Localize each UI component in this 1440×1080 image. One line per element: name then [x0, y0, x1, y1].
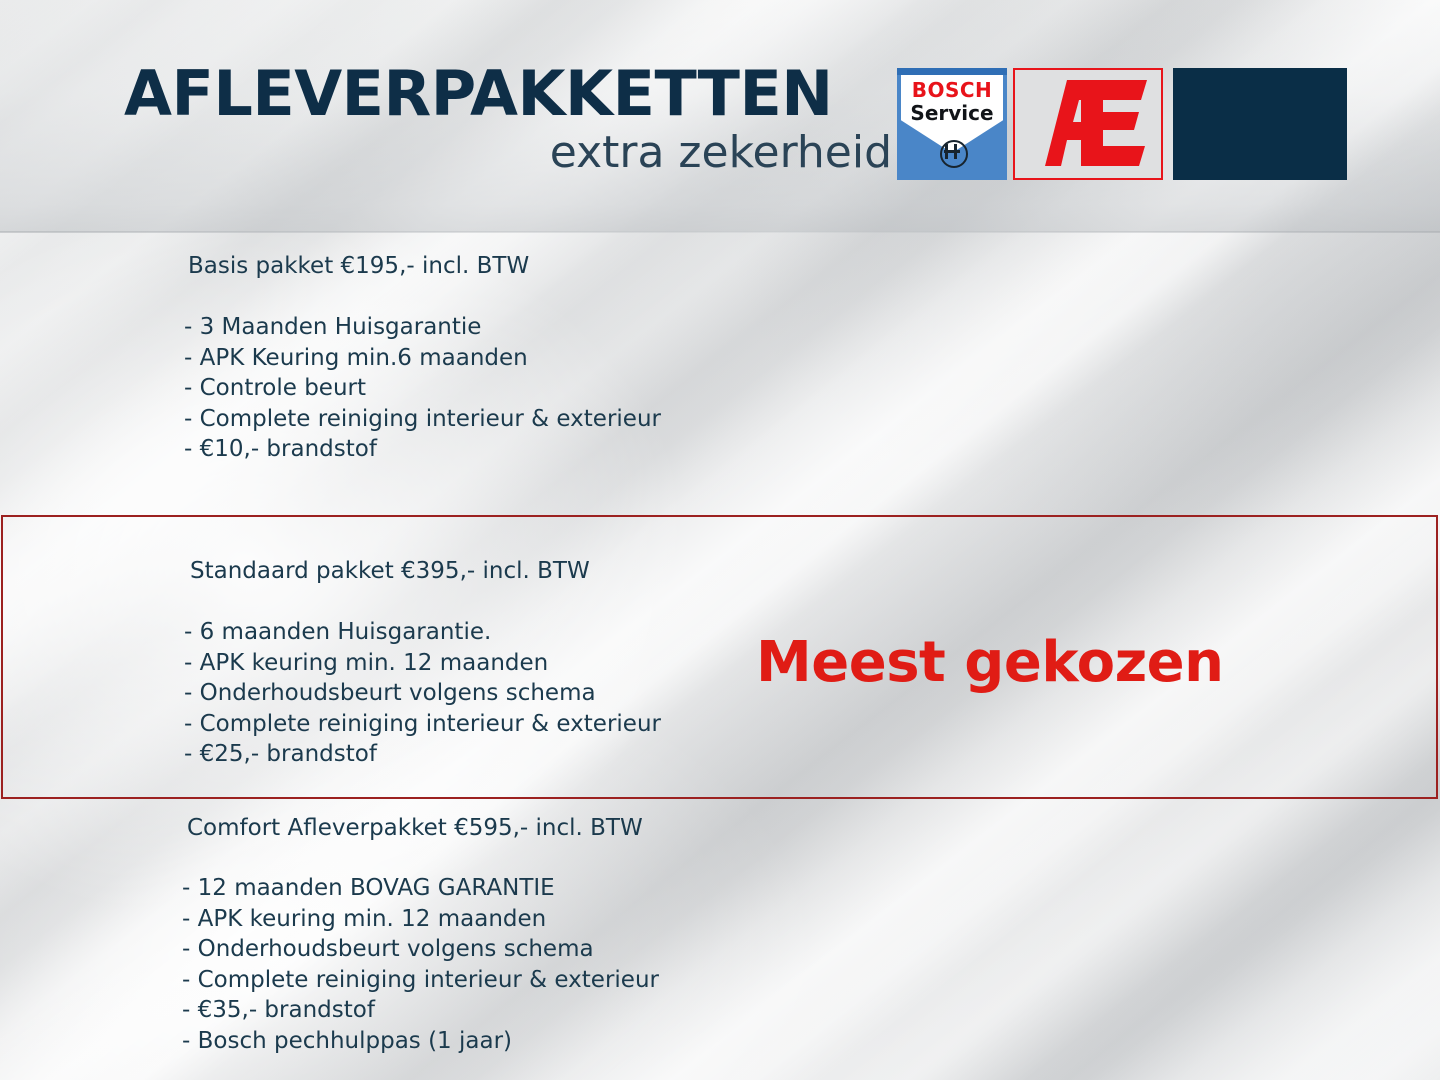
- list-item: - Onderhoudsbeurt volgens schema: [184, 678, 661, 709]
- list-item: - 12 maanden BOVAG GARANTIE: [182, 873, 659, 904]
- list-item: - Onderhoudsbeurt volgens schema: [182, 934, 659, 965]
- package-comfort-list: - 12 maanden BOVAG GARANTIE - APK keurin…: [182, 873, 659, 1056]
- title-block: AFLEVERPAKKETTEN extra zekerheid: [124, 62, 892, 178]
- bosch-armature-icon: [940, 140, 968, 168]
- highlight-label: Meest gekozen: [756, 632, 1224, 694]
- background-top-band-edge: [0, 231, 1440, 233]
- package-comfort: Comfort Afleverpakket €595,- incl. BTW -…: [187, 815, 659, 1056]
- bosch-service-wordmark: Service: [897, 102, 1007, 124]
- header: AFLEVERPAKKETTEN extra zekerheid BOSCH S…: [0, 0, 1440, 214]
- bosch-top-bar: [897, 68, 1007, 75]
- package-basis-list: - 3 Maanden Huisgarantie - APK Keuring m…: [184, 312, 661, 465]
- list-item: - Complete reiniging interieur & exterie…: [184, 709, 661, 740]
- list-item: - 3 Maanden Huisgarantie: [184, 312, 661, 343]
- package-standaard-title: Standaard pakket €395,- incl. BTW: [190, 558, 661, 584]
- bosch-wordmark: BOSCH: [897, 80, 1007, 100]
- logo-row: BOSCH Service: [897, 68, 1347, 180]
- list-item: - APK keuring min. 12 maanden: [184, 648, 661, 679]
- package-comfort-title: Comfort Afleverpakket €595,- incl. BTW: [187, 815, 659, 841]
- list-item: - €25,- brandstof: [184, 739, 661, 770]
- list-item: - APK keuring min. 12 maanden: [182, 904, 659, 935]
- page-subtitle: extra zekerheid: [124, 128, 892, 178]
- ae-logo: [1013, 68, 1163, 180]
- list-item: - €35,- brandstof: [182, 995, 659, 1026]
- list-item: - Controle beurt: [184, 373, 661, 404]
- slide-root: AFLEVERPAKKETTEN extra zekerheid BOSCH S…: [0, 0, 1440, 1080]
- bosch-service-logo: BOSCH Service: [897, 68, 1007, 180]
- package-basis: Basis pakket €195,- incl. BTW - 3 Maande…: [188, 253, 661, 465]
- package-basis-title: Basis pakket €195,- incl. BTW: [188, 253, 661, 279]
- list-item: - APK Keuring min.6 maanden: [184, 343, 661, 374]
- list-item: - Complete reiniging interieur & exterie…: [184, 404, 661, 435]
- list-item: - 6 maanden Huisgarantie.: [184, 617, 661, 648]
- package-standaard-list: - 6 maanden Huisgarantie. - APK keuring …: [184, 617, 661, 770]
- navy-block: [1173, 68, 1347, 180]
- package-standaard: Standaard pakket €395,- incl. BTW - 6 ma…: [190, 558, 661, 770]
- ae-monogram-icon: [1015, 70, 1161, 178]
- list-item: - Complete reiniging interieur & exterie…: [182, 965, 659, 996]
- list-item: - Bosch pechhulppas (1 jaar): [182, 1026, 659, 1057]
- list-item: - €10,- brandstof: [184, 434, 661, 465]
- page-title: AFLEVERPAKKETTEN: [124, 62, 892, 126]
